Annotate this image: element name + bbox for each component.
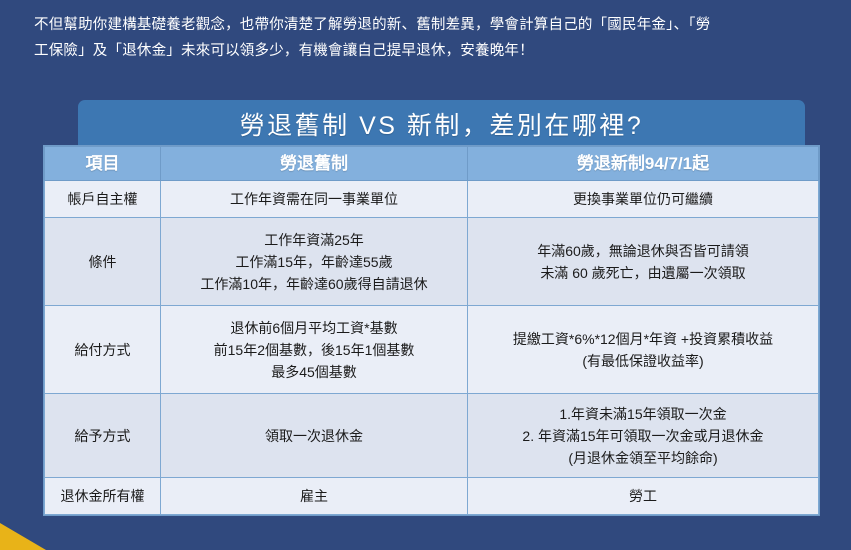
table-row: 條件 工作年資滿25年 工作滿15年，年齡達55歲 工作滿10年，年齡達60歲得… (45, 218, 819, 306)
cell-line: 勞工 (474, 485, 812, 507)
cell-line: 工作滿10年，年齡達60歲得自請退休 (167, 273, 461, 295)
cell-line: 最多45個基數 (167, 361, 461, 383)
row-old-value: 退休前6個月平均工資*基數 前15年2個基數，後15年1個基數 最多45個基數 (161, 306, 468, 394)
row-label: 帳戶自主權 (45, 181, 161, 218)
cell-line: 未滿 60 歲死亡，由遺屬一次領取 (474, 262, 812, 284)
intro-line-2: 工保險」及「退休金」未來可以領多少，有機會讓自己提早退休，安養晚年！ (34, 38, 824, 64)
row-new-value: 更換事業單位仍可繼續 (468, 181, 819, 218)
row-old-value: 領取一次退休金 (161, 394, 468, 478)
column-header-old-system: 勞退舊制 (161, 147, 468, 181)
comparison-table-container: 項目 勞退舊制 勞退新制94/7/1起 帳戶自主權 工作年資需在同一事業單位 更… (44, 146, 818, 515)
intro-paragraph: 不但幫助你建構基礎養老觀念，也帶你清楚了解勞退的新、舊制差異，學會計算自己的「國… (34, 12, 824, 64)
corner-accent-triangle (0, 523, 46, 550)
row-label: 退休金所有權 (45, 478, 161, 515)
cell-line: (有最低保證收益率) (474, 350, 812, 372)
table-row: 帳戶自主權 工作年資需在同一事業單位 更換事業單位仍可繼續 (45, 181, 819, 218)
cell-line: 工作年資滿25年 (167, 229, 461, 251)
row-new-value: 勞工 (468, 478, 819, 515)
cell-line: 領取一次退休金 (167, 425, 461, 447)
cell-line: 年滿60歲，無論退休與否皆可請領 (474, 240, 812, 262)
cell-line: (月退休金領至平均餘命) (474, 447, 812, 469)
row-old-value: 雇主 (161, 478, 468, 515)
row-label: 條件 (45, 218, 161, 306)
table-row: 給付方式 退休前6個月平均工資*基數 前15年2個基數，後15年1個基數 最多4… (45, 306, 819, 394)
row-label: 給予方式 (45, 394, 161, 478)
table-body: 帳戶自主權 工作年資需在同一事業單位 更換事業單位仍可繼續 條件 工作年資滿25… (45, 181, 819, 515)
row-new-value: 提繳工資*6%*12個月*年資 +投資累積收益 (有最低保證收益率) (468, 306, 819, 394)
column-header-item: 項目 (45, 147, 161, 181)
cell-line: 1.年資未滿15年領取一次金 (474, 403, 812, 425)
title-banner: 勞退舊制 VS 新制，差別在哪裡? (78, 100, 805, 148)
cell-line: 退休前6個月平均工資*基數 (167, 317, 461, 339)
row-label: 給付方式 (45, 306, 161, 394)
comparison-table: 項目 勞退舊制 勞退新制94/7/1起 帳戶自主權 工作年資需在同一事業單位 更… (44, 146, 819, 515)
cell-line: 雇主 (167, 485, 461, 507)
cell-line: 提繳工資*6%*12個月*年資 +投資累積收益 (474, 328, 812, 350)
cell-line: 2. 年資滿15年可領取一次金或月退休金 (474, 425, 812, 447)
table-header: 項目 勞退舊制 勞退新制94/7/1起 (45, 147, 819, 181)
cell-line: 工作滿15年，年齡達55歲 (167, 251, 461, 273)
intro-line-1: 不但幫助你建構基礎養老觀念，也帶你清楚了解勞退的新、舊制差異，學會計算自己的「國… (34, 12, 824, 38)
table-row: 給予方式 領取一次退休金 1.年資未滿15年領取一次金 2. 年資滿15年可領取… (45, 394, 819, 478)
table-row: 退休金所有權 雇主 勞工 (45, 478, 819, 515)
table-header-row: 項目 勞退舊制 勞退新制94/7/1起 (45, 147, 819, 181)
row-new-value: 1.年資未滿15年領取一次金 2. 年資滿15年可領取一次金或月退休金 (月退休… (468, 394, 819, 478)
row-old-value: 工作年資需在同一事業單位 (161, 181, 468, 218)
banner-title: 勞退舊制 VS 新制，差別在哪裡? (240, 106, 644, 142)
cell-line: 工作年資需在同一事業單位 (167, 188, 461, 210)
column-header-new-system: 勞退新制94/7/1起 (468, 147, 819, 181)
row-old-value: 工作年資滿25年 工作滿15年，年齡達55歲 工作滿10年，年齡達60歲得自請退… (161, 218, 468, 306)
cell-line: 更換事業單位仍可繼續 (474, 188, 812, 210)
cell-line: 前15年2個基數，後15年1個基數 (167, 339, 461, 361)
row-new-value: 年滿60歲，無論退休與否皆可請領 未滿 60 歲死亡，由遺屬一次領取 (468, 218, 819, 306)
